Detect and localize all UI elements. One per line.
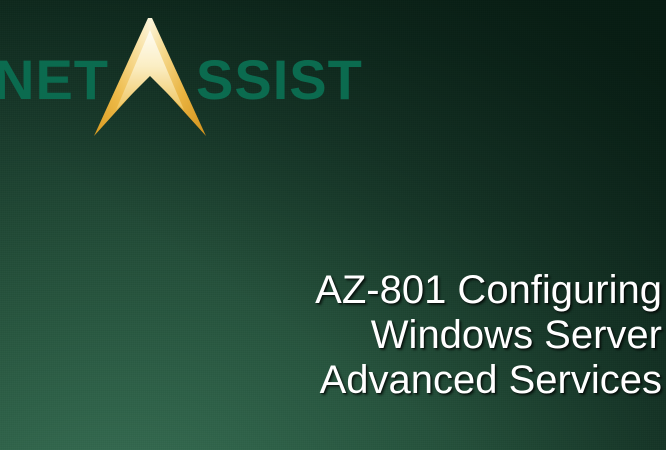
netassist-logo: NET SSIST	[0, 8, 360, 138]
title-line-1: AZ-801 Configuring	[62, 268, 662, 313]
title-line-3: Advanced Services	[62, 358, 662, 403]
title-line-2: Windows Server	[62, 313, 662, 358]
slide-title: AZ-801 Configuring Windows Server Advanc…	[62, 268, 662, 403]
title-slide: NET SSIST	[0, 0, 666, 450]
chevron-arrow-logo-icon	[84, 14, 216, 140]
logo-wordmark-right: SSIST	[196, 52, 363, 108]
